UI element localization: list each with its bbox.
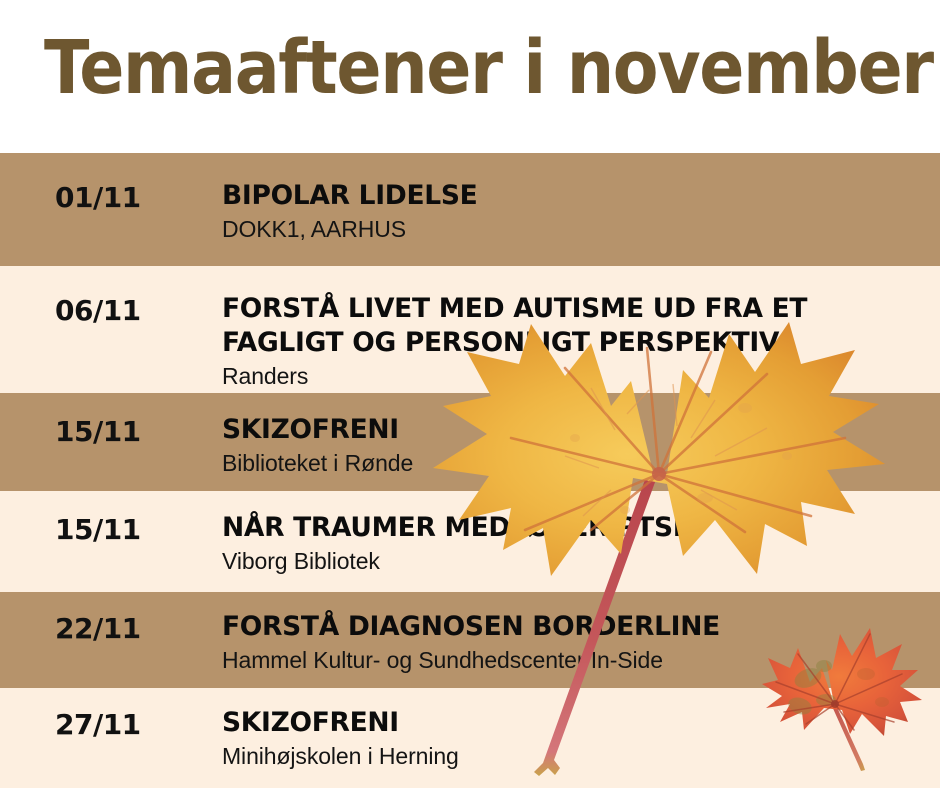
event-date: 15/11 — [55, 515, 205, 545]
schedule-row: 22/11 FORSTÅ DIAGNOSEN BORDERLINE Hammel… — [0, 592, 940, 688]
page-title: Temaaftener i november — [44, 26, 818, 110]
schedule-row: 15/11 SKIZOFRENI Biblioteket i Rønde — [0, 393, 940, 491]
schedule-list: 01/11 BIPOLAR LIDELSE DOKK1, AARHUS 06/1… — [0, 153, 940, 788]
event-title: NÅR TRAUMER MEDFØRER PTSD — [222, 511, 928, 545]
event-venue: Biblioteket i Rønde — [222, 448, 928, 478]
event-date: 15/11 — [55, 417, 205, 447]
schedule-row: 06/11 FORSTÅ LIVET MED AUTISME UD FRA ET… — [0, 266, 940, 393]
event-venue: Minihøjskolen i Herning — [222, 741, 928, 771]
event-title: SKIZOFRENI — [222, 706, 928, 740]
event-details: NÅR TRAUMER MEDFØRER PTSD Viborg Bibliot… — [222, 511, 928, 576]
event-venue: DOKK1, AARHUS — [222, 214, 928, 244]
event-date: 06/11 — [55, 296, 205, 326]
event-details: FORSTÅ LIVET MED AUTISME UD FRA ET FAGLI… — [222, 292, 928, 391]
poster-header: Temaaftener i november — [0, 0, 940, 153]
event-date: 01/11 — [55, 183, 205, 213]
event-venue: Hammel Kultur- og Sundhedscenter In-Side — [222, 645, 928, 675]
event-venue: Viborg Bibliotek — [222, 546, 928, 576]
event-date: 22/11 — [55, 614, 205, 644]
event-details: SKIZOFRENI Minihøjskolen i Herning — [222, 706, 928, 771]
event-venue: Randers — [222, 361, 928, 391]
event-date: 27/11 — [55, 710, 205, 740]
event-title: FORSTÅ DIAGNOSEN BORDERLINE — [222, 610, 928, 644]
schedule-row: 27/11 SKIZOFRENI Minihøjskolen i Herning — [0, 688, 940, 788]
event-title: FORSTÅ LIVET MED AUTISME UD FRA ET FAGLI… — [222, 292, 928, 360]
poster-canvas: 01/11 BIPOLAR LIDELSE DOKK1, AARHUS 06/1… — [0, 0, 940, 788]
event-title: BIPOLAR LIDELSE — [222, 179, 928, 213]
event-details: FORSTÅ DIAGNOSEN BORDERLINE Hammel Kultu… — [222, 610, 928, 675]
event-title: SKIZOFRENI — [222, 413, 928, 447]
schedule-row: 15/11 NÅR TRAUMER MEDFØRER PTSD Viborg B… — [0, 491, 940, 592]
schedule-row: 01/11 BIPOLAR LIDELSE DOKK1, AARHUS — [0, 153, 940, 266]
event-details: BIPOLAR LIDELSE DOKK1, AARHUS — [222, 179, 928, 244]
event-details: SKIZOFRENI Biblioteket i Rønde — [222, 413, 928, 478]
